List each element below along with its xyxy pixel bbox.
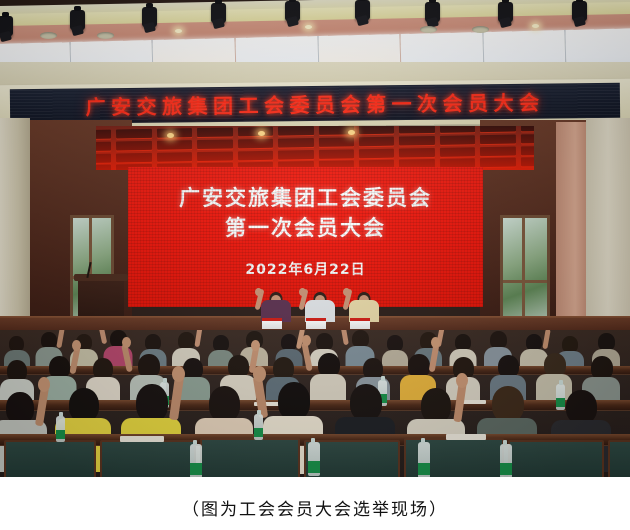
- recessed-ceiling-light-icon: [472, 26, 489, 33]
- meeting-photograph: 广安交旅集团工会委员会第一次会员大会: [0, 0, 630, 477]
- stage-spotlight-icon: [425, 2, 440, 22]
- seat-back: [508, 440, 604, 477]
- recessed-ceiling-light-icon: [97, 32, 114, 39]
- person-head: [136, 384, 168, 422]
- hall-pillar-right-inner: [556, 122, 588, 328]
- stage-spotlight-icon: [142, 7, 157, 27]
- water-bottle: [308, 442, 320, 476]
- raised-arm: [253, 376, 268, 419]
- downlight-icon: [175, 29, 182, 33]
- person-head: [566, 390, 597, 424]
- raised-arm: [340, 330, 349, 345]
- name-card: [350, 318, 370, 329]
- raised-hand: [72, 340, 81, 351]
- window-transom: [503, 280, 547, 283]
- raised-arm: [98, 330, 107, 344]
- name-card: [306, 318, 326, 329]
- raised-hand: [431, 337, 440, 348]
- screen-title-line-2: 第一次会员大会: [128, 213, 483, 243]
- raised-arm: [56, 330, 64, 348]
- raised-hand: [172, 366, 185, 382]
- screen-title-line-1: 广安交旅集团工会委员会: [128, 183, 483, 213]
- person-head: [69, 388, 99, 422]
- stage-ceiling-lamp-icon: [167, 133, 174, 138]
- raised-hand: [253, 366, 266, 382]
- hall-pillar-left: [0, 118, 30, 323]
- raised-hand: [122, 337, 131, 348]
- water-bottle: [254, 414, 263, 440]
- downlight-icon: [532, 24, 539, 28]
- person-head: [278, 382, 310, 420]
- person-head: [421, 388, 451, 423]
- raised-hand: [343, 288, 350, 296]
- article-figure: 广安交旅集团工会委员会第一次会员大会: [0, 0, 630, 530]
- audience-area: [0, 330, 630, 477]
- stage-ceiling-lamp-icon: [348, 130, 355, 135]
- water-bottle: [418, 442, 430, 477]
- stage-spotlight-icon: [572, 1, 587, 21]
- raised-arm: [194, 330, 202, 347]
- raised-hand: [255, 288, 262, 296]
- led-banner-text: 广安交旅集团工会委员会第一次会员大会: [85, 87, 544, 121]
- raised-hand: [456, 373, 468, 388]
- seat-back: [608, 440, 630, 477]
- water-bottle: [56, 416, 65, 442]
- person-head: [492, 386, 524, 422]
- led-banner-display: 广安交旅集团工会委员会第一次会员大会: [10, 83, 620, 124]
- ballot-paper: [446, 434, 486, 440]
- water-bottle: [500, 444, 512, 477]
- stage-spotlight-icon: [498, 2, 513, 22]
- stage-spotlight-icon: [355, 0, 370, 20]
- stage-spotlight-icon: [70, 10, 85, 30]
- recessed-ceiling-light-icon: [40, 32, 57, 39]
- screen-content: 广安交旅集团工会委员会 第一次会员大会 2022年6月22日: [128, 167, 483, 279]
- person-head: [350, 384, 382, 421]
- raised-hand: [251, 340, 260, 351]
- hall-pillar-right: [586, 118, 630, 328]
- podium-top: [74, 274, 128, 281]
- figure-caption: （图为工会会员大会选举现场）: [0, 484, 630, 530]
- water-bottle: [190, 444, 202, 477]
- ballot-paper: [120, 436, 164, 442]
- raised-hand: [38, 377, 50, 392]
- stage-slatted-ceiling: [96, 126, 534, 170]
- stage-spotlight-icon: [0, 16, 13, 36]
- name-card: [262, 318, 282, 329]
- person-head: [209, 386, 240, 422]
- seat-back: [100, 440, 196, 477]
- raised-hand: [299, 288, 306, 296]
- stage-spotlight-icon: [211, 3, 226, 23]
- stage-spotlight-icon: [285, 1, 300, 21]
- seat-back: [4, 440, 96, 477]
- downlight-icon: [305, 25, 312, 29]
- recessed-ceiling-light-icon: [420, 26, 437, 33]
- screen-date: 2022年6月22日: [128, 259, 483, 279]
- raised-hand: [302, 335, 311, 346]
- stage-ceiling-lamp-icon: [258, 131, 265, 136]
- seat-back: [200, 438, 300, 477]
- figure-caption-text: （图为工会会员大会选举现场）: [182, 495, 448, 520]
- stage-led-screen: 广安交旅集团工会委员会 第一次会员大会 2022年6月22日: [128, 167, 483, 307]
- raised-arm: [542, 330, 550, 349]
